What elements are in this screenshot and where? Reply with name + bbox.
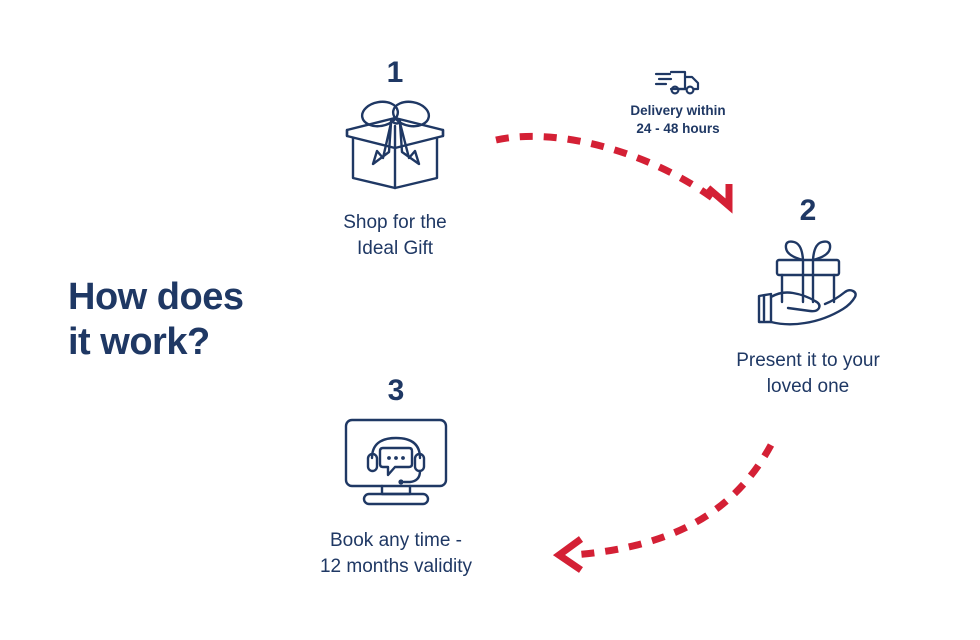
step-1-number: 1 xyxy=(280,58,510,88)
page-title: How does it work? xyxy=(68,275,368,365)
step-3-caption-line-2: 12 months validity xyxy=(281,554,511,580)
step-2-caption-line-2: loved one xyxy=(693,374,923,400)
step-3-caption: Book any time - 12 months validity xyxy=(281,528,511,580)
step-1-caption: Shop for the Ideal Gift xyxy=(280,210,510,262)
step-3: 3 xyxy=(281,376,511,580)
monitor-support-icon xyxy=(281,412,511,512)
arrow-step2-to-step3 xyxy=(535,425,815,585)
step-3-caption-line-1: Book any time - xyxy=(281,528,511,554)
arrow-step1-to-step2 xyxy=(480,110,760,230)
gift-box-icon xyxy=(280,94,510,194)
step-2-caption: Present it to your loved one xyxy=(693,348,923,400)
page-title-line-2: it work? xyxy=(68,320,368,365)
hand-holding-gift-icon xyxy=(693,232,923,332)
step-3-number: 3 xyxy=(281,376,511,406)
step-1-caption-line-1: Shop for the xyxy=(280,210,510,236)
step-1-caption-line-2: Ideal Gift xyxy=(280,236,510,262)
delivery-truck-icon xyxy=(592,68,764,98)
infographic-canvas: How does it work? 1 xyxy=(0,0,980,640)
page-title-line-1: How does xyxy=(68,275,368,320)
step-1: 1 Shop for the xyxy=(280,58,510,262)
step-2-caption-line-1: Present it to your xyxy=(693,348,923,374)
